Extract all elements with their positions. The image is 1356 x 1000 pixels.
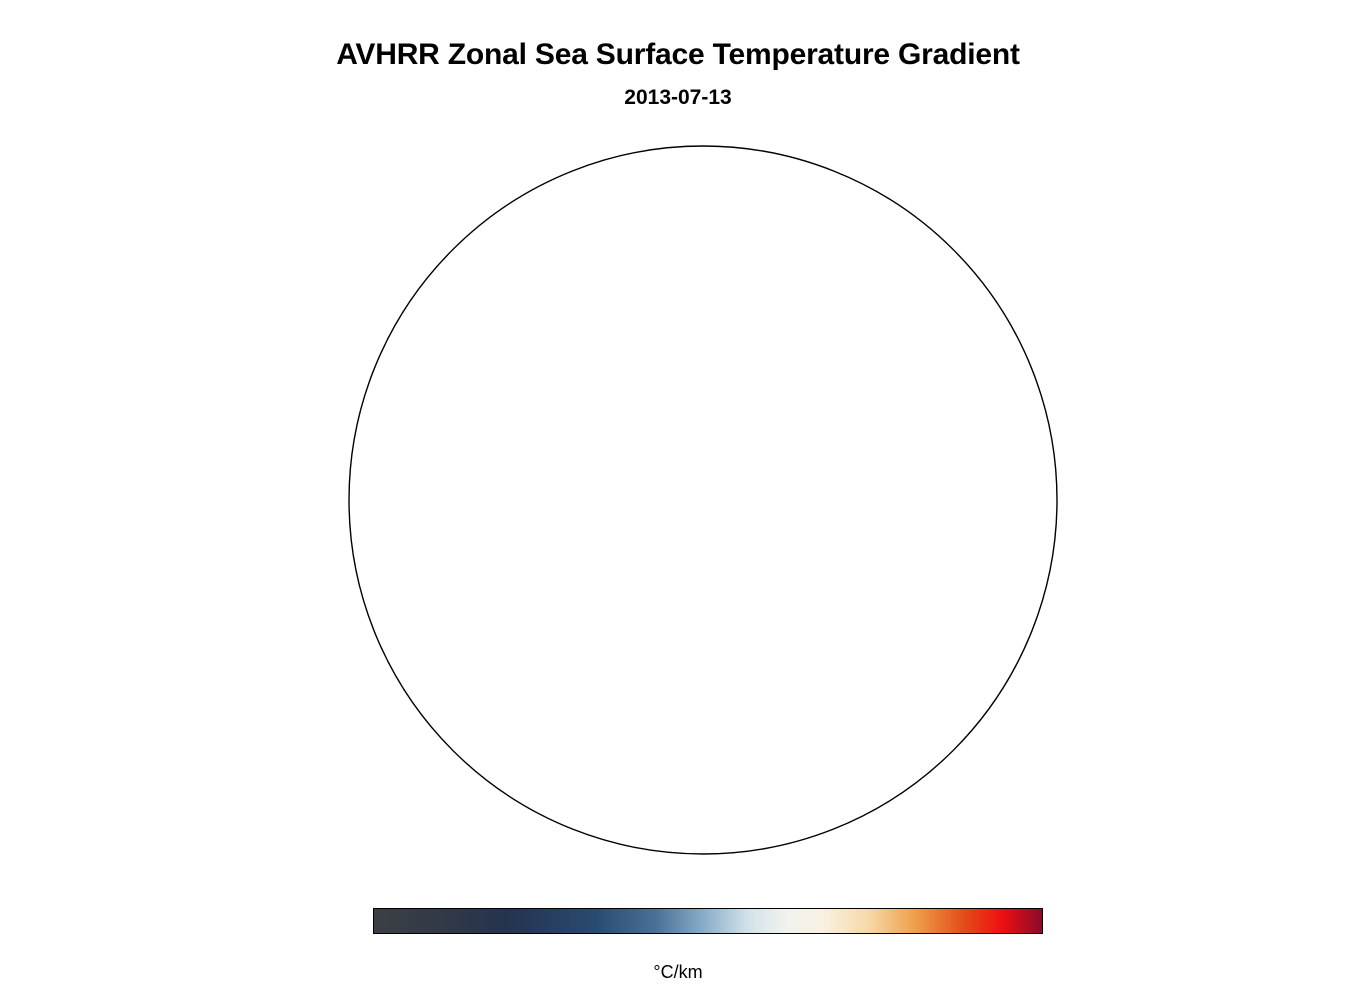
page-subtitle: 2013-07-13 (0, 86, 1356, 110)
colorbar-unit-label: °C/km (0, 962, 1356, 983)
figure-root: AVHRR Zonal Sea Surface Temperature Grad… (0, 0, 1356, 1000)
colorbar-tick-labels (373, 938, 1043, 962)
map-graticule-layer (348, 145, 1058, 855)
colorbar-gradient (373, 908, 1043, 934)
page-title: AVHRR Zonal Sea Surface Temperature Grad… (0, 38, 1356, 72)
colorbar[interactable] (373, 908, 1043, 934)
map-outer-circle (349, 146, 1057, 854)
polar-map (348, 145, 1058, 855)
